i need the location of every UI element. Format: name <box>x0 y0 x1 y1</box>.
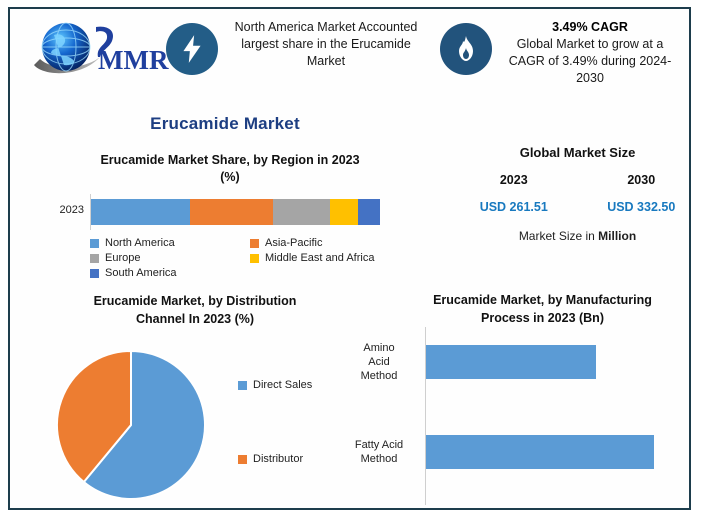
market-size-value-2030: USD 332.50 <box>578 200 701 214</box>
global-market-size-values: 2023 USD 261.51 2030 USD 332.50 <box>450 173 701 214</box>
distribution-channel-pie <box>56 350 206 500</box>
cagr-description: Global Market to grow at a CAGR of 3.49%… <box>509 37 672 85</box>
region-share-chart: 2023 <box>40 194 385 230</box>
legend-row: North America Asia-Pacific <box>90 237 410 249</box>
label-line: Acid <box>340 355 418 369</box>
manufacturing-label-amino-acid: Amino Acid Method <box>340 341 418 383</box>
legend-label-direct-sales: Direct Sales <box>253 379 312 391</box>
market-size-2030: 2030 USD 332.50 <box>578 173 701 214</box>
market-size-year-2023: 2023 <box>450 173 578 187</box>
mmr-globe-logo: MMR <box>30 19 170 81</box>
header-highlight-north-america: North America Market Accounted largest s… <box>166 17 426 87</box>
segment-middle-east-africa <box>330 199 358 225</box>
legend-swatch-north-america <box>90 239 99 248</box>
legend-item-middle-east-africa: Middle East and Africa <box>250 252 410 264</box>
legend-swatch-middle-east-africa <box>250 254 259 263</box>
legend-item-south-america: South America <box>90 267 250 279</box>
legend-label-north-america: North America <box>105 237 175 249</box>
legend-swatch-south-america <box>90 269 99 278</box>
page-title: Erucamide Market <box>10 114 440 134</box>
distribution-channel-chart-title: Erucamide Market, by Distribution Channe… <box>30 292 360 328</box>
label-line: Fatty Acid <box>340 438 418 452</box>
legend-swatch-asia-pacific <box>250 239 259 248</box>
manufacturing-title-line1: Erucamide Market, by Manufacturing <box>390 291 695 309</box>
market-size-unit-note: Market Size in Million <box>450 229 701 243</box>
manufacturing-label-fatty-acid: Fatty Acid Method <box>340 438 418 466</box>
distribution-title-line1: Erucamide Market, by Distribution <box>30 292 360 310</box>
legend-label-asia-pacific: Asia-Pacific <box>265 237 322 249</box>
legend-swatch-direct-sales <box>238 381 247 390</box>
logo-wordmark: MMR <box>98 45 169 75</box>
region-share-bar-stack <box>91 199 380 225</box>
legend-swatch-distributor <box>238 455 247 464</box>
cagr-value: 3.49% CAGR <box>500 19 680 36</box>
global-market-size-panel: Global Market Size 2023 USD 261.51 2030 … <box>450 145 701 243</box>
market-size-year-2030: 2030 <box>578 173 701 187</box>
legend-item-north-america: North America <box>90 237 250 249</box>
segment-europe <box>273 199 330 225</box>
market-size-value-2023: USD 261.51 <box>450 200 578 214</box>
label-line: Method <box>340 452 418 466</box>
manufacturing-process-chart-title: Erucamide Market, by Manufacturing Proce… <box>390 291 695 327</box>
header-highlight-text-2: 3.49% CAGR Global Market to grow at a CA… <box>500 19 680 87</box>
market-size-2023: 2023 USD 261.51 <box>450 173 578 214</box>
legend-row: South America <box>90 267 410 279</box>
segment-south-america <box>358 199 380 225</box>
flame-icon <box>440 23 492 75</box>
manufacturing-title-line2: Process in 2023 (Bn) <box>390 309 695 327</box>
global-market-size-title: Global Market Size <box>450 145 701 160</box>
region-share-title-line2: (%) <box>60 169 400 186</box>
legend-label-middle-east-africa: Middle East and Africa <box>265 252 374 264</box>
region-share-chart-title: Erucamide Market Share, by Region in 202… <box>60 152 400 186</box>
infographic-page: MMR North America Market Accounted large… <box>0 0 701 519</box>
page-frame: MMR North America Market Accounted large… <box>8 7 691 510</box>
region-share-title-line1: Erucamide Market Share, by Region in 202… <box>60 152 400 169</box>
market-size-unit-prefix: Market Size in <box>519 229 598 243</box>
legend-swatch-europe <box>90 254 99 263</box>
segment-asia-pacific <box>190 199 273 225</box>
legend-item-europe: Europe <box>90 252 250 264</box>
segment-north-america <box>91 199 190 225</box>
legend-label-south-america: South America <box>105 267 177 279</box>
manufacturing-bar-fatty-acid <box>426 435 654 469</box>
header: MMR North America Market Accounted large… <box>20 11 680 91</box>
manufacturing-process-chart: Amino Acid Method Fatty Acid Method <box>340 327 690 507</box>
region-share-legend: North America Asia-Pacific Europe Middle… <box>90 237 410 282</box>
legend-label-europe: Europe <box>105 252 140 264</box>
legend-label-distributor: Distributor <box>253 453 303 465</box>
manufacturing-bar-amino-acid <box>426 345 596 379</box>
lightning-bolt-icon <box>166 23 218 75</box>
legend-item-asia-pacific: Asia-Pacific <box>250 237 410 249</box>
header-highlight-cagr: 3.49% CAGR Global Market to grow at a CA… <box>440 17 680 87</box>
legend-row: Europe Middle East and Africa <box>90 252 410 264</box>
distribution-title-line2: Channel In 2023 (%) <box>30 310 360 328</box>
header-highlight-text-1: North America Market Accounted largest s… <box>226 19 426 70</box>
label-line: Amino <box>340 341 418 355</box>
market-size-unit: Million <box>598 229 636 243</box>
region-share-category-label: 2023 <box>40 204 84 216</box>
label-line: Method <box>340 369 418 383</box>
